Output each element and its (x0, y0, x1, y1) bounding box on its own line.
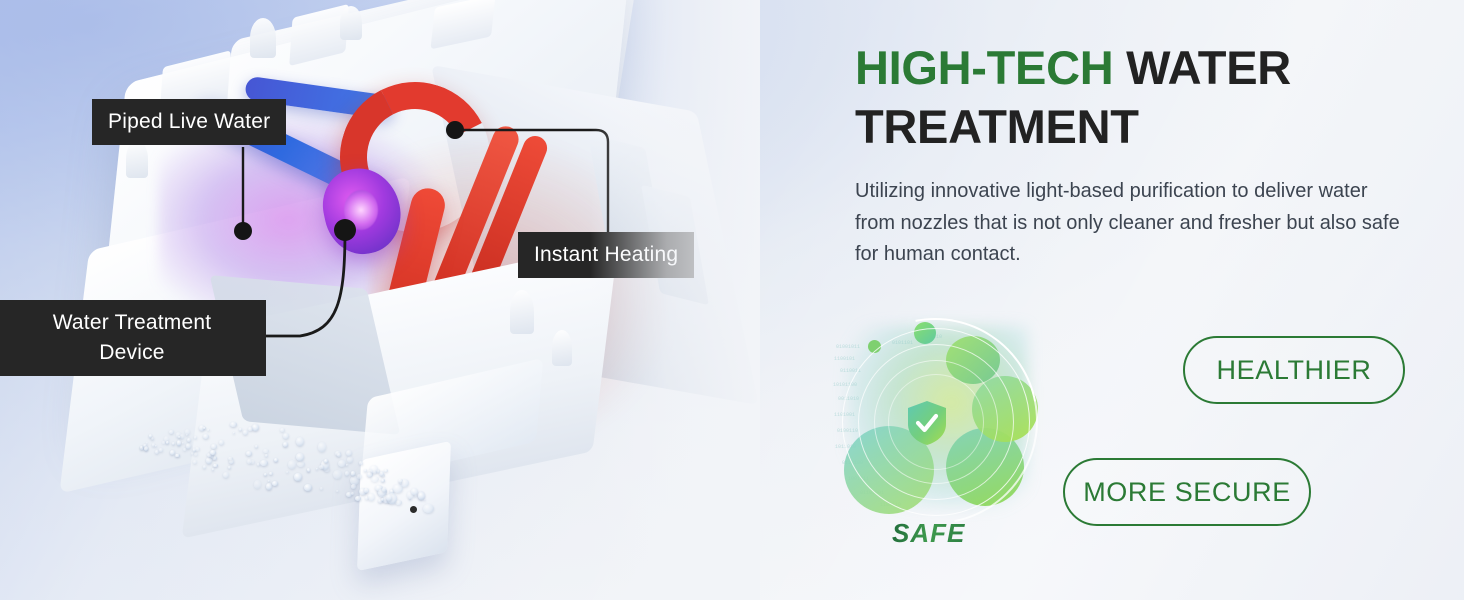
svg-text:01001011: 01001011 (836, 344, 860, 350)
shield-check-icon (906, 400, 948, 446)
safe-caption: SAFE (892, 518, 965, 549)
safe-graphic: 010010111100101 011001110101100 00110101… (828, 318, 1043, 558)
product-scene: Piped Live Water Instant Heating Water T… (0, 0, 760, 600)
callout-water-treatment-device: Water Treatment Device (0, 300, 266, 376)
content-column: HIGH-TECH WATER TREATMENT Utilizing inno… (855, 0, 1464, 600)
promo-banner: Piped Live Water Instant Heating Water T… (0, 0, 1464, 600)
badge-healthier[interactable]: HEALTHIER (1183, 336, 1405, 404)
callout-instant-heating: Instant Heating (518, 232, 694, 278)
subcopy-text: Utilizing innovative light-based purific… (855, 176, 1400, 271)
headline-accent: HIGH-TECH (855, 41, 1113, 94)
page-title: HIGH-TECH WATER TREATMENT (855, 38, 1415, 156)
callout-piped-live-water: Piped Live Water (92, 99, 286, 145)
badge-more-secure[interactable]: MORE SECURE (1063, 458, 1311, 526)
